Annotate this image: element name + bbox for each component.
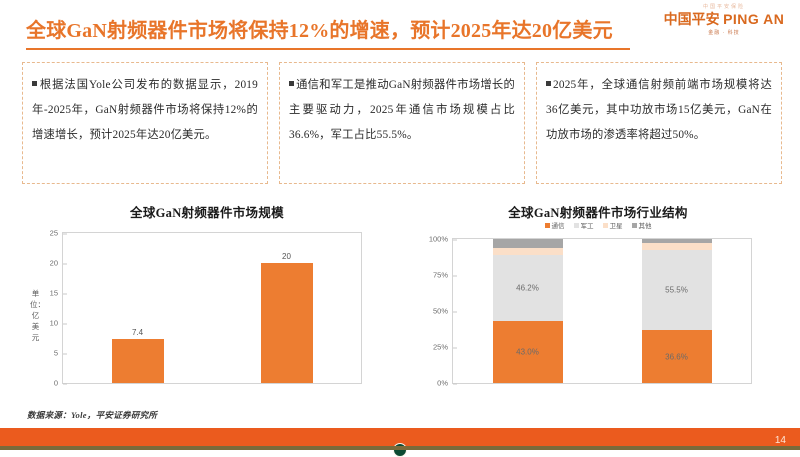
bullet-text-3-wrapper: 2025年，全球通信射频前端市场规模将达36亿美元，其中功放市场15亿美元，Ga… [546, 73, 772, 148]
legend-swatch-icon [632, 223, 637, 228]
chart-right-segment-label: 43.0% [516, 348, 539, 357]
chart-left-bar [112, 339, 164, 383]
legend-swatch-icon [574, 223, 579, 228]
chart-right-legend-item[interactable]: 其他 [632, 220, 652, 230]
chart-right-y-tick: 25% [433, 343, 453, 352]
chart-right-y-tick: 0% [437, 379, 453, 388]
chart-right-legend-label: 通信 [552, 220, 565, 230]
chart-right-stacked-bar: 43.0%46.2% [493, 239, 563, 383]
slide-header: 全球GaN射频器件市场将保持12%的增速，预计2025年达20亿美元 中国平安保… [0, 0, 800, 56]
logo-tagline: 金融 · 科技 [660, 29, 788, 37]
chart-right-segment: 46.2% [493, 255, 563, 322]
bullet-text-3: 2025年，全球通信射频前端市场规模将达36亿美元，其中功放市场15亿美元，Ga… [546, 79, 772, 141]
logo-watermark-text: 中国平安保险 [660, 4, 788, 11]
pingan-logo: 中国平安保险 中国平安 PING AN 金融 · 科技 [660, 4, 788, 38]
chart-right-segment: 43.0% [493, 321, 563, 383]
chart-right-legend-item[interactable]: 军工 [574, 220, 594, 230]
chart-left-plot-area: 05101520257.42019年202025年E [62, 232, 362, 384]
chart-right-segment [493, 239, 563, 248]
chart-right-segment [493, 248, 563, 254]
logo-chinese-text: 中国平安 [664, 13, 720, 28]
chart-right-legend-label: 其他 [639, 220, 652, 230]
chart-right-legend-label: 军工 [581, 220, 594, 230]
chart-left-bar [261, 263, 313, 383]
bullet-text-1-wrapper: 根据法国Yole公司发布的数据显示，2019年-2025年，GaN射频器件市场将… [32, 73, 258, 148]
bullet-square-icon [546, 81, 551, 86]
chart-right-legend-label: 卫星 [610, 220, 623, 230]
chart-right-segment [642, 243, 712, 251]
chart-right-stacked-bar: 36.6%55.5% [642, 239, 712, 383]
chart-right-segment-label: 55.5% [665, 286, 688, 295]
chart-left-y-axis-title: 单位：亿美元 [30, 288, 41, 343]
chart-right-title: 全球GaN射频器件市场行业结构 [402, 202, 794, 221]
chart-industry-structure: 全球GaN射频器件市场行业结构 通信军工卫星其他 0%25%50%75%100%… [402, 196, 794, 426]
chart-left-y-tick: 10 [50, 319, 63, 328]
chart-right-y-tick: 100% [429, 235, 453, 244]
legend-swatch-icon [603, 223, 608, 228]
footer-bottom-strip [0, 446, 800, 450]
chart-right-segment-label: 36.6% [665, 352, 688, 361]
chart-right-plot-area: 0%25%50%75%100%43.0%46.2%2019年36.6%55.5%… [452, 238, 752, 384]
legend-swatch-icon [545, 223, 550, 228]
bullet-text-1: 根据法国Yole公司发布的数据显示，2019年-2025年，GaN射频器件市场将… [32, 79, 258, 141]
logo-main-text: 中国平安 PING AN [660, 11, 788, 29]
chart-left-y-tick: 15 [50, 289, 63, 298]
chart-right-legend-item[interactable]: 通信 [545, 220, 565, 230]
chart-right-legend-item[interactable]: 卫星 [603, 220, 623, 230]
bullet-box-3: 2025年，全球通信射频前端市场规模将达36亿美元，其中功放市场15亿美元，Ga… [536, 62, 782, 184]
bullet-text-2: 通信和军工是推动GaN射频器件市场增长的主要驱动力，2025年通信市场规模占比3… [289, 79, 515, 141]
chart-left-y-tick: 25 [50, 229, 63, 238]
title-underline-divider [26, 48, 630, 50]
source-note: 数据来源：Yole，平安证券研究所 [27, 409, 157, 421]
charts-region: 全球GaN射频器件市场规模 单位：亿美元 05101520257.42019年2… [0, 196, 800, 426]
chart-left-value-label: 20 [282, 252, 291, 261]
chart-left-y-tick: 20 [50, 259, 63, 268]
bullet-square-icon [32, 81, 37, 86]
chart-left-title: 全球GaN射频器件市场规模 [14, 202, 400, 221]
chart-right-legend: 通信军工卫星其他 [402, 220, 794, 230]
bullet-box-2: 通信和军工是推动GaN射频器件市场增长的主要驱动力，2025年通信市场规模占比3… [279, 62, 525, 184]
page-title: 全球GaN射频器件市场将保持12%的增速，预计2025年达20亿美元 [26, 14, 613, 43]
bullet-box-1: 根据法国Yole公司发布的数据显示，2019年-2025年，GaN射频器件市场将… [22, 62, 268, 184]
chart-right-segment: 55.5% [642, 250, 712, 330]
page-number: 14 [775, 435, 786, 446]
chart-right-segment: 36.6% [642, 330, 712, 383]
chart-right-segment-label: 46.2% [516, 283, 539, 292]
chart-left-value-label: 7.4 [132, 328, 143, 337]
chart-right-y-tick: 50% [433, 307, 453, 316]
bullet-text-2-wrapper: 通信和军工是推动GaN射频器件市场增长的主要驱动力，2025年通信市场规模占比3… [289, 73, 515, 148]
chart-left-y-tick: 5 [54, 349, 63, 358]
bullet-box-row: 根据法国Yole公司发布的数据显示，2019年-2025年，GaN射频器件市场将… [22, 62, 782, 184]
bullet-square-icon [289, 81, 294, 86]
chart-market-size: 全球GaN射频器件市场规模 单位：亿美元 05101520257.42019年2… [14, 196, 400, 426]
logo-english-text: PING AN [723, 11, 784, 27]
chart-left-y-tick: 0 [54, 379, 63, 388]
chart-right-y-tick: 75% [433, 271, 453, 280]
chart-right-segment [642, 239, 712, 243]
